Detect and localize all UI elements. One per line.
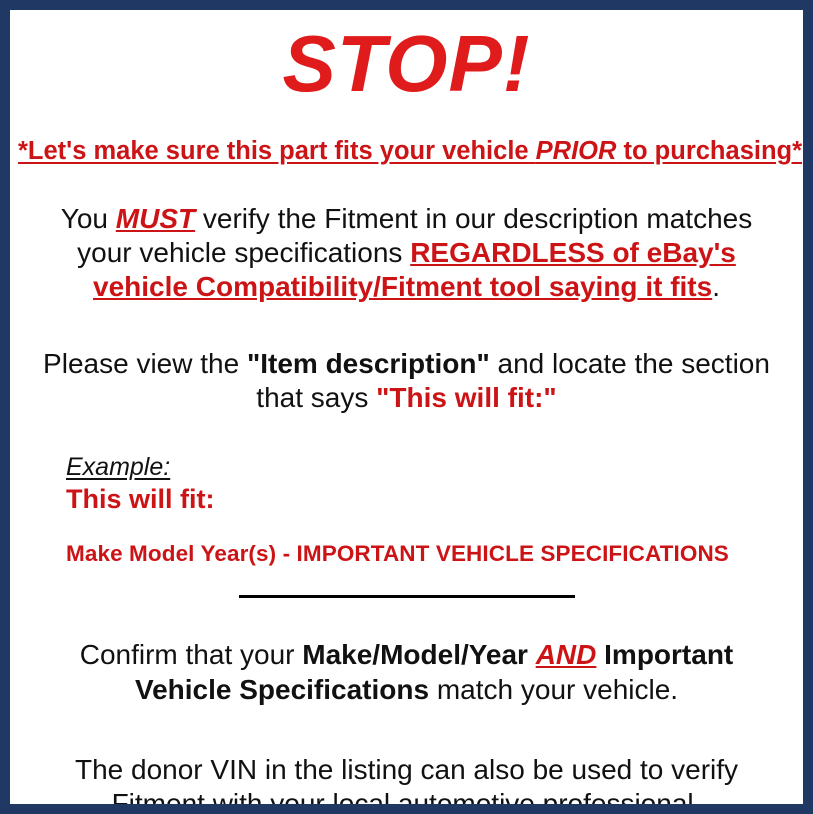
confirm-space-2 [596, 639, 604, 670]
verify-segment-1: You [61, 203, 116, 234]
donor-vin-paragraph: The donor VIN in the listing can also be… [18, 753, 795, 814]
confirm-space-1 [528, 639, 536, 670]
item-description-paragraph: Please view the "Item description" and l… [18, 347, 795, 415]
subtitle-banner: *Let's make sure this part fits your veh… [18, 137, 795, 165]
example-label: Example: [66, 453, 795, 482]
confirm-segment-1: Confirm that your [80, 639, 303, 670]
confirm-paragraph: Confirm that your Make/Model/Year AND Im… [18, 638, 795, 706]
fitment-notice-card: STOP! *Let's make sure this part fits yo… [0, 0, 813, 814]
divider-container [18, 595, 795, 598]
example-block: Example: This will fit: Make Model Year(… [18, 453, 795, 568]
emphasis-and: AND [536, 639, 597, 670]
confirm-segment-2: match your vehicle. [429, 674, 678, 705]
emphasis-item-description: "Item description" [247, 348, 490, 379]
emphasis-make-model-year: Make/Model/Year [302, 639, 528, 670]
subtitle-text-after: to purchasing* [616, 137, 802, 165]
example-this-will-fit: This will fit: [66, 484, 795, 516]
horizontal-divider [239, 595, 575, 598]
emphasis-must: MUST [116, 203, 195, 234]
verify-segment-3: . [712, 271, 720, 302]
emphasis-this-will-fit-quote: "This will fit:" [376, 382, 557, 413]
verify-fitment-paragraph: You MUST verify the Fitment in our descr… [18, 202, 795, 304]
page-title: STOP! [18, 24, 795, 104]
example-vehicle-specification-line: Make Model Year(s) - IMPORTANT VEHICLE S… [66, 540, 795, 567]
notice-inner-panel: STOP! *Let's make sure this part fits yo… [10, 24, 803, 814]
subtitle-text-before: *Let's make sure this part fits your veh… [18, 137, 536, 165]
subtitle-emphasis-prior: PRIOR [536, 137, 617, 165]
itemdesc-segment-1: Please view the [43, 348, 247, 379]
